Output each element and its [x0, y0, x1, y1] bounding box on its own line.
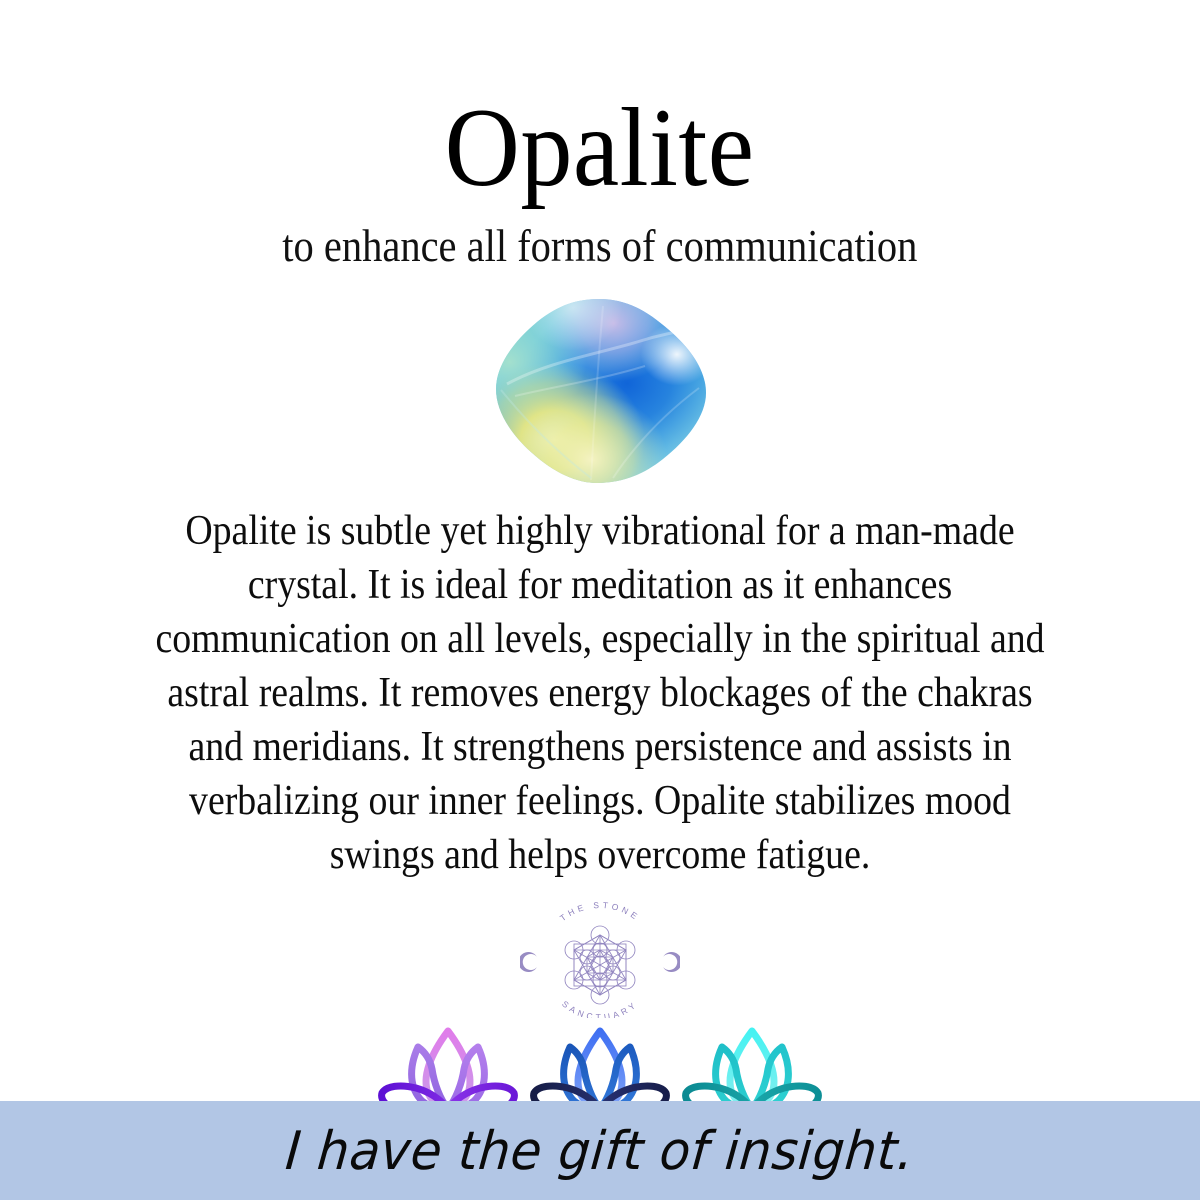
page-title: Opalite: [445, 92, 755, 204]
brand-logo: THE STONE SANCTUARY: [518, 899, 683, 1019]
page-subtitle: to enhance all forms of communication: [282, 222, 917, 270]
opalite-stone-icon: [487, 292, 713, 487]
crescent-moon-left-icon: [520, 952, 537, 972]
brand-top-arc-text: THE STONE: [558, 900, 642, 923]
brand-bottom-arc-text: SANCTUARY: [560, 999, 640, 1018]
affirmation-banner: I have the gift of insight.: [0, 1101, 1200, 1200]
opalite-crystal-info-card: Opalite to enhance all forms of communic…: [0, 0, 1200, 1200]
opalite-stone-image: [485, 292, 715, 487]
crescent-moon-right-icon: [663, 952, 680, 972]
description-paragraph: Opalite is subtle yet highly vibrational…: [155, 505, 1046, 883]
the-stone-sanctuary-logo-icon: THE STONE SANCTUARY: [520, 900, 680, 1018]
affirmation-text: I have the gift of insight.: [283, 1120, 916, 1181]
